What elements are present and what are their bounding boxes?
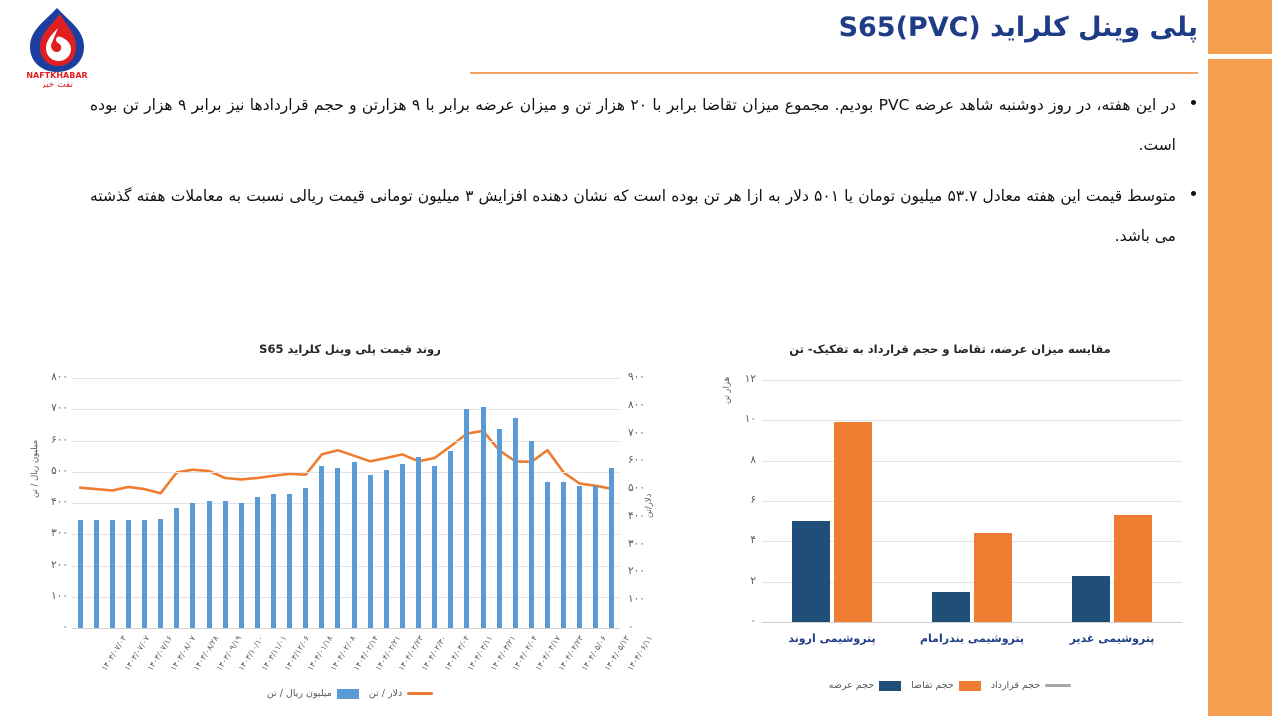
bar: [303, 488, 308, 628]
legend-item-supply: حجم عرضه: [829, 680, 901, 691]
y-axis-tick: ۲: [732, 575, 756, 587]
bar: [593, 486, 598, 628]
legend-box-swatch: [337, 689, 359, 699]
y-axis-tick: ۳۰۰: [42, 527, 68, 539]
right-y-axis-title: دلار/تن: [644, 494, 654, 518]
gridline: [762, 501, 1182, 502]
left-y-axis-title: میلیون ریال / تن: [30, 440, 40, 498]
y2-axis-tick: ۷۰۰: [628, 427, 658, 439]
bar: [174, 508, 179, 628]
legend-label: حجم عرضه: [829, 680, 874, 691]
bar: [190, 503, 195, 628]
chart-title: روند قیمت پلی وینل کلراید S65: [14, 336, 686, 356]
gridline: [72, 409, 620, 410]
bar: [207, 501, 212, 629]
gridline: [72, 628, 620, 629]
bullet-text: در این هفته، در روز دوشنبه شاهد عرضه PVC…: [90, 96, 1176, 154]
bar: [545, 482, 550, 628]
legend-box-swatch: [879, 681, 901, 691]
y2-axis-tick: ۸۰۰: [628, 399, 658, 411]
legend-item-rial: میلیون ریال / تن: [267, 688, 359, 699]
bar: [368, 475, 373, 628]
bar: [416, 457, 421, 628]
y2-axis-tick: ۰: [628, 621, 658, 633]
gridline: [72, 441, 620, 442]
y2-axis-tick: ۵۰۰: [628, 482, 658, 494]
bar-demand: [974, 533, 1012, 622]
y-axis-tick: ۰: [42, 621, 68, 633]
bar-demand: [834, 422, 872, 622]
y2-axis-tick: ۶۰۰: [628, 454, 658, 466]
bar: [110, 520, 115, 628]
bar: [513, 418, 518, 628]
sidebar-accent-band: [1208, 0, 1272, 716]
list-item: در این هفته، در روز دوشنبه شاهد عرضه PVC…: [90, 86, 1198, 165]
y2-axis-tick: ۹۰۰: [628, 371, 658, 383]
title-divider: [470, 72, 1198, 74]
supply-demand-plot-area: [762, 380, 1182, 622]
y-axis-tick: ۵۰۰: [42, 465, 68, 477]
bar-supply: [1072, 576, 1110, 622]
gridline: [72, 378, 620, 379]
bar: [464, 409, 469, 628]
y-axis-tick: ۸: [732, 454, 756, 466]
category-label: پتروشیمی اروند: [762, 632, 902, 645]
y-axis-tick: ۱۰: [732, 413, 756, 425]
gridline: [72, 472, 620, 473]
bar: [432, 466, 437, 629]
bar: [609, 468, 614, 628]
price-trend-plot-area: [72, 378, 620, 628]
bar: [481, 407, 486, 628]
y-axis-tick: ۷۰۰: [42, 402, 68, 414]
bar: [78, 520, 83, 628]
bar: [384, 470, 389, 628]
bar-demand: [1114, 515, 1152, 622]
chart-title: مقایسه میزان عرضه، تقاضا و حجم قرارداد ب…: [700, 336, 1200, 356]
flame-icon: [30, 8, 84, 72]
bar-supply: [792, 521, 830, 622]
legend-label: دلار / تن: [369, 688, 402, 699]
naftkhabar-logo: NAFTKHABAR نفت خبر: [14, 4, 100, 88]
bar: [319, 466, 324, 629]
bar: [497, 429, 502, 628]
y-axis-tick: ۲۰۰: [42, 559, 68, 571]
gridline: [762, 420, 1182, 421]
supply-demand-legend: حجم قرارداد حجم تقاضا حجم عرضه: [700, 680, 1200, 691]
gridline: [72, 503, 620, 504]
right-chart-y-axis-title: هزار تن: [722, 377, 732, 404]
y2-axis-tick: ۱۰۰: [628, 593, 658, 605]
category-label: پتروشیمی بندرامام: [902, 632, 1042, 645]
legend-line-swatch: [407, 692, 433, 696]
bar: [352, 462, 357, 628]
bar: [271, 494, 276, 628]
y-axis-tick: ۱۲: [732, 373, 756, 385]
bar: [529, 441, 534, 629]
gridline: [762, 461, 1182, 462]
gridline: [762, 622, 1182, 623]
legend-item-dollar: دلار / تن: [369, 688, 433, 699]
bar: [223, 501, 228, 628]
bar: [94, 520, 99, 628]
y-axis-tick: ۰: [732, 615, 756, 627]
y-axis-tick: ۶: [732, 494, 756, 506]
category-label: پتروشیمی غدیر: [1042, 632, 1182, 645]
bar: [400, 464, 405, 628]
legend-box-swatch: [959, 681, 981, 691]
gridline: [762, 380, 1182, 381]
y2-axis-tick: ۲۰۰: [628, 565, 658, 577]
bar: [126, 520, 131, 628]
bar: [287, 494, 292, 628]
list-item: متوسط قیمت این هفته معادل ۵۳.۷ میلیون تو…: [90, 177, 1198, 256]
bullet-dot-icon: [1191, 100, 1196, 105]
y-axis-tick: ۸۰۰: [42, 371, 68, 383]
gridline: [72, 566, 620, 567]
legend-item-contract: حجم قرارداد: [991, 680, 1071, 691]
gridline: [72, 534, 620, 535]
y-axis-tick: ۴: [732, 534, 756, 546]
logo-latin-text: NAFTKHABAR: [26, 71, 87, 80]
legend-label: حجم تقاضا: [911, 680, 954, 691]
gridline: [72, 597, 620, 598]
legend-item-demand: حجم تقاضا: [911, 680, 981, 691]
bar: [561, 482, 566, 628]
bar: [142, 520, 147, 628]
bar-supply: [932, 592, 970, 622]
bar: [158, 519, 163, 628]
page-title: پلی وینل کلراید S65(PVC): [578, 12, 1198, 43]
legend-line-swatch: [1045, 684, 1071, 688]
legend-label: حجم قرارداد: [991, 680, 1040, 691]
price-trend-chart: روند قیمت پلی وینل کلراید S65 ۸۰۰۷۰۰۶۰۰۵…: [14, 336, 686, 716]
bullet-list: در این هفته، در روز دوشنبه شاهد عرضه PVC…: [90, 86, 1198, 268]
bar: [255, 497, 260, 628]
logo-persian-text: نفت خبر: [40, 80, 73, 88]
legend-label: میلیون ریال / تن: [267, 688, 332, 699]
bar: [448, 451, 453, 628]
bar: [335, 468, 340, 628]
bullet-dot-icon: [1191, 191, 1196, 196]
sidebar-notch: [1208, 54, 1272, 59]
bar: [577, 486, 582, 628]
bullet-text: متوسط قیمت این هفته معادل ۵۳.۷ میلیون تو…: [90, 187, 1176, 245]
y-axis-tick: ۱۰۰: [42, 590, 68, 602]
bar: [239, 503, 244, 628]
supply-demand-chart: مقایسه میزان عرضه، تقاضا و حجم قرارداد ب…: [700, 336, 1200, 716]
y-axis-tick: ۴۰۰: [42, 496, 68, 508]
price-trend-legend: دلار / تن میلیون ریال / تن: [14, 688, 686, 699]
y-axis-tick: ۶۰۰: [42, 434, 68, 446]
y2-axis-tick: ۳۰۰: [628, 538, 658, 550]
